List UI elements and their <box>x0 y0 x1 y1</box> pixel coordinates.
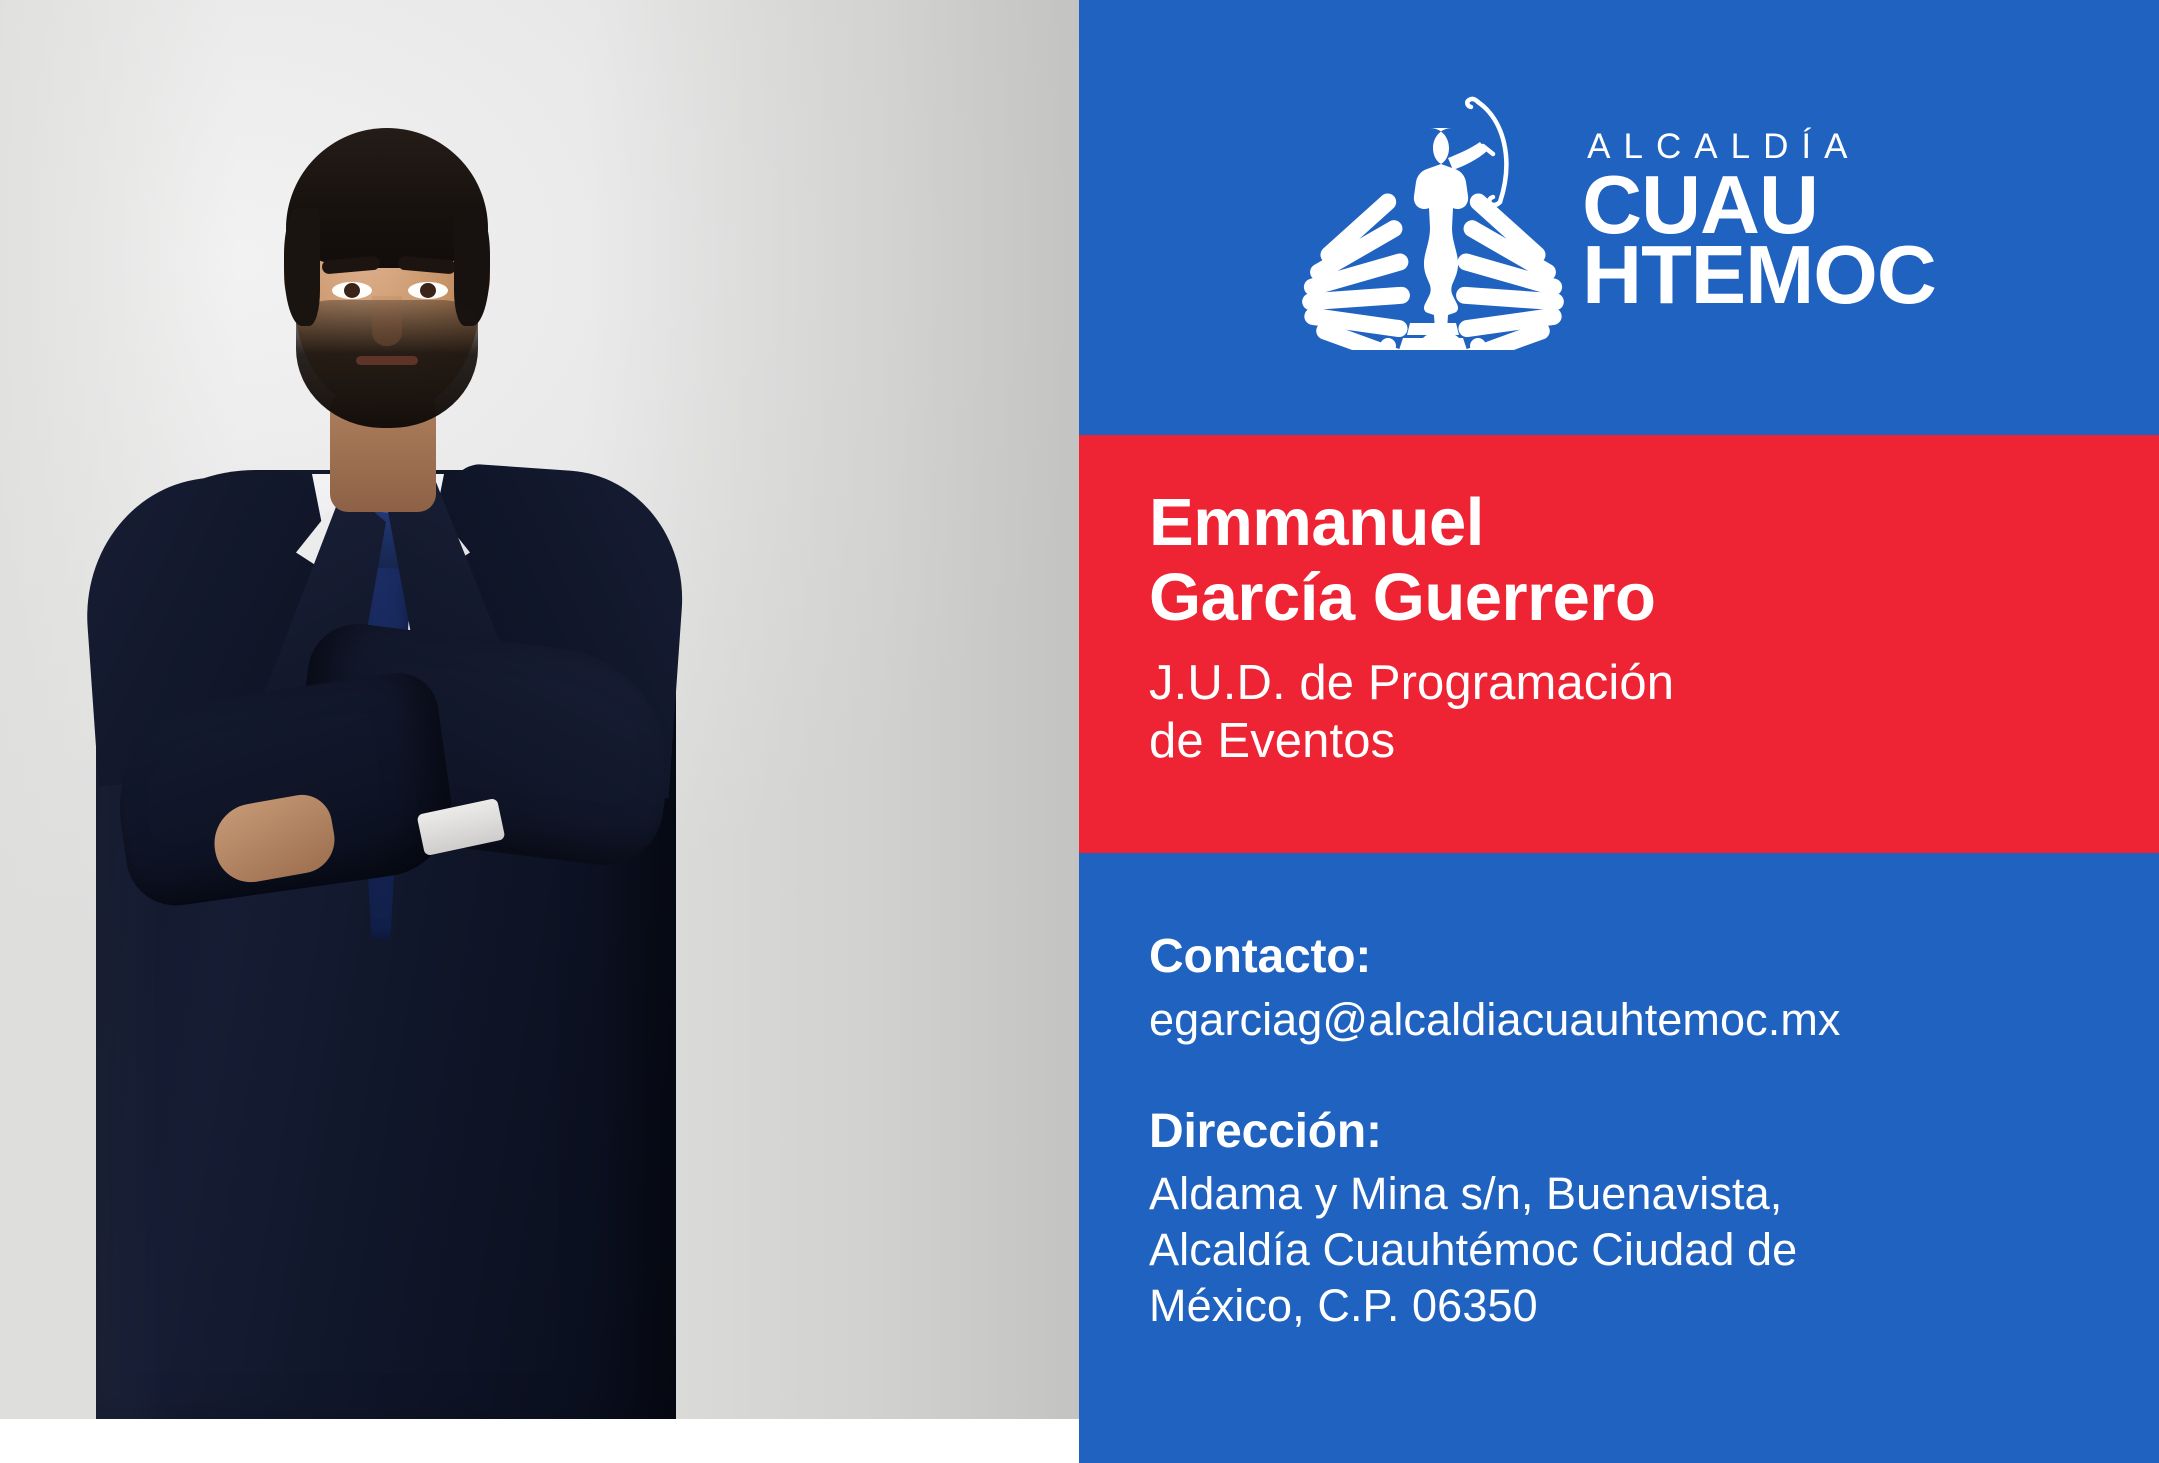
portrait-photo <box>0 0 1079 1441</box>
logo-wordmark: ALCALDÍA CUAU HTEMOC <box>1582 129 1936 309</box>
person-name-line-1: Emmanuel <box>1149 485 2103 560</box>
address-line-1: Aldama y Mina s/n, Buenavista, <box>1149 1166 2109 1222</box>
contact-block: Contacto: egarciag@alcaldiacuauhtemoc.mx… <box>1079 853 2159 1334</box>
info-pane: ALCALDÍA CUAU HTEMOC Emmanuel García Gue… <box>1079 0 2159 1463</box>
person-role-line-1: J.U.D. de Programación <box>1149 655 2103 713</box>
person-name-line-2: García Guerrero <box>1149 560 2103 635</box>
address-lines: Aldama y Mina s/n, Buenavista, Alcaldía … <box>1149 1166 2109 1333</box>
person-figure <box>0 0 1079 1441</box>
portrait-pane <box>0 0 1079 1463</box>
diana-cazadora-archer-icon <box>1302 80 1564 350</box>
alcaldia-logo: ALCALDÍA CUAU HTEMOC <box>1079 0 2159 435</box>
mouth <box>356 356 418 365</box>
address-line-2: Alcaldía Cuauhtémoc Ciudad de <box>1149 1222 2109 1278</box>
pupil-left <box>344 283 360 298</box>
contact-label: Contacto: <box>1149 931 2109 984</box>
logo-line-2: HTEMOC <box>1582 240 1936 310</box>
photo-bottom-strip <box>0 1419 1079 1441</box>
nose <box>372 296 402 346</box>
name-band: Emmanuel García Guerrero J.U.D. de Progr… <box>1079 435 2159 853</box>
pupil-right <box>420 283 436 298</box>
block-spacer <box>1149 1048 2109 1106</box>
person-role-line-2: de Eventos <box>1149 713 2103 771</box>
address-line-3: México, C.P. 06350 <box>1149 1278 2109 1334</box>
contact-email[interactable]: egarciag@alcaldiacuauhtemoc.mx <box>1149 992 2109 1048</box>
business-card: ALCALDÍA CUAU HTEMOC Emmanuel García Gue… <box>0 0 2159 1463</box>
address-label: Dirección: <box>1149 1106 2109 1159</box>
